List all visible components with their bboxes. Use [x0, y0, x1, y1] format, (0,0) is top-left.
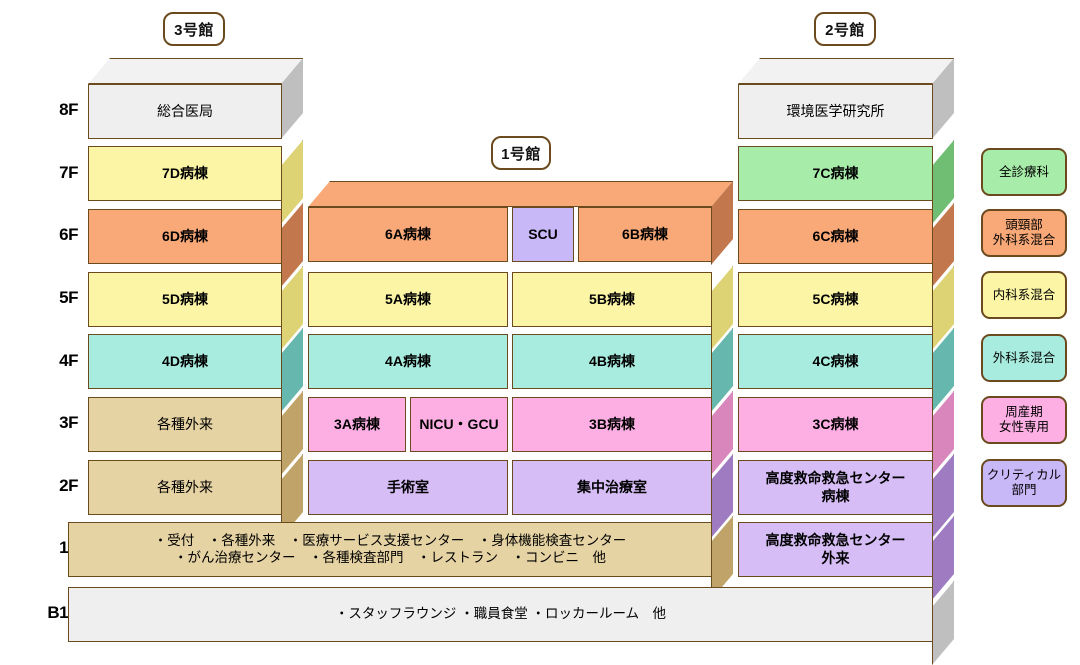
legend-item-perinatal-women: 周産期 女性専用: [981, 396, 1067, 444]
kan1-room-6b: 6B病棟: [578, 207, 712, 262]
kan1-room-operating: 手術室: [308, 460, 508, 515]
kan2-room-3c: 3C病棟: [738, 397, 933, 452]
kan3-room-2f: 各種外来: [88, 460, 282, 515]
kan1-room-5a: 5A病棟: [308, 272, 508, 327]
building-badge-kan2: 2号館: [814, 12, 876, 46]
kan2-room-2f-emergency-ward: 高度救命救急センター 病棟: [738, 460, 933, 515]
basement-band-content: ・スタッフラウンジ ・職員食堂 ・ロッカールーム 他: [68, 587, 933, 642]
kan1-room-3b: 3B病棟: [512, 397, 712, 452]
kan2-room-8f: 環境医学研究所: [738, 84, 933, 139]
kan3-room-7f: 7D病棟: [88, 146, 282, 201]
kan2-room-5c: 5C病棟: [738, 272, 933, 327]
floor-label-4f: 4F: [20, 346, 78, 376]
kan3-roof: [88, 58, 303, 84]
kan3-room-3f: 各種外来: [88, 397, 282, 452]
hospital-floor-map: 3号館 1号館 2号館 8F 7F 6F 5F 4F 3F 2F 1F B1F …: [0, 0, 1080, 664]
legend-item-internal-mixed: 内科系混合: [981, 271, 1067, 319]
kan2-room-6c: 6C病棟: [738, 209, 933, 264]
kan3-room-5f: 5D病棟: [88, 272, 282, 327]
kan2-room-7c: 7C病棟: [738, 146, 933, 201]
kan1-room-scu: SCU: [512, 207, 574, 262]
legend-item-head-neck-surgery: 頭頸部 外科系混合: [981, 209, 1067, 257]
kan1-room-5b: 5B病棟: [512, 272, 712, 327]
kan2-room-1f-emergency-outpatient: 高度救命救急センター 外来: [738, 522, 933, 577]
kan3-room-4f: 4D病棟: [88, 334, 282, 389]
floor-label-6f: 6F: [20, 220, 78, 250]
kan3-room-6f: 6D病棟: [88, 209, 282, 264]
kan1-roof: [308, 181, 733, 207]
kan2-roof: [738, 58, 954, 84]
legend-item-critical-dept: クリティカル 部門: [981, 459, 1067, 507]
kan1-room-3a: 3A病棟: [308, 397, 406, 452]
floor-label-8f: 8F: [20, 95, 78, 125]
legend-item-all-departments: 全診療科: [981, 148, 1067, 196]
kan3-room-8f: 総合医局: [88, 84, 282, 139]
building-badge-kan3: 3号館: [163, 12, 225, 46]
kan1-room-4b: 4B病棟: [512, 334, 712, 389]
floor1-band-content: ・受付 ・各種外来 ・医療サービス支援センター ・身体機能検査センター ・がん治…: [68, 522, 712, 577]
kan1-room-nicu-gcu: NICU・GCU: [410, 397, 508, 452]
legend-item-surgical-mixed: 外科系混合: [981, 334, 1067, 382]
floor-label-3f: 3F: [20, 408, 78, 438]
floor-label-5f: 5F: [20, 283, 78, 313]
building-badge-kan1: 1号館: [491, 136, 551, 170]
floor-label-7f: 7F: [20, 158, 78, 188]
floor-label-2f: 2F: [20, 471, 78, 501]
kan2-room-4c: 4C病棟: [738, 334, 933, 389]
kan1-room-4a: 4A病棟: [308, 334, 508, 389]
kan1-room-6a: 6A病棟: [308, 207, 508, 262]
kan1-room-icu: 集中治療室: [512, 460, 712, 515]
